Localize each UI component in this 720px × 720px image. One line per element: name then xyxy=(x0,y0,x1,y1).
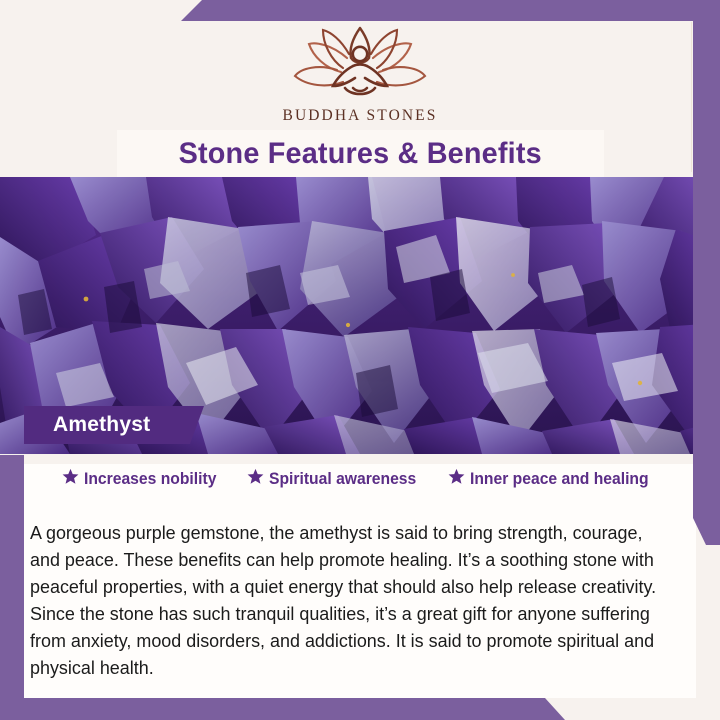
brand-logo: BUDDHA STONES xyxy=(0,26,720,125)
benefit-item: Spiritual awareness xyxy=(247,468,424,490)
stone-name-label: Amethyst xyxy=(24,413,150,437)
star-icon xyxy=(247,468,264,490)
page-title: Stone Features & Benefits xyxy=(179,137,542,171)
poster-canvas: BUDDHA STONES Stone Features & Benefits … xyxy=(0,0,720,720)
star-icon xyxy=(62,468,79,490)
benefit-item: Inner peace and healing xyxy=(448,468,658,490)
benefit-label: Increases nobility xyxy=(84,470,216,489)
title-banner: Stone Features & Benefits xyxy=(117,130,604,177)
stone-name-badge: Amethyst xyxy=(24,406,204,444)
frame-left-band xyxy=(0,455,24,720)
content-top-strip xyxy=(24,454,696,464)
benefit-item: Increases nobility xyxy=(62,468,223,490)
frame-right-band xyxy=(693,0,720,545)
stone-description: A gorgeous purple gemstone, the amethyst… xyxy=(30,519,670,681)
star-icon xyxy=(448,468,465,490)
frame-hairline xyxy=(685,22,692,172)
benefit-label: Inner peace and healing xyxy=(470,470,649,489)
lotus-meditation-icon xyxy=(0,26,720,105)
benefit-label: Spiritual awareness xyxy=(269,470,416,489)
brand-name: BUDDHA STONES xyxy=(0,107,720,125)
benefits-row: Increases nobility Spiritual awareness I… xyxy=(24,468,696,490)
frame-bottom-band xyxy=(0,698,720,720)
